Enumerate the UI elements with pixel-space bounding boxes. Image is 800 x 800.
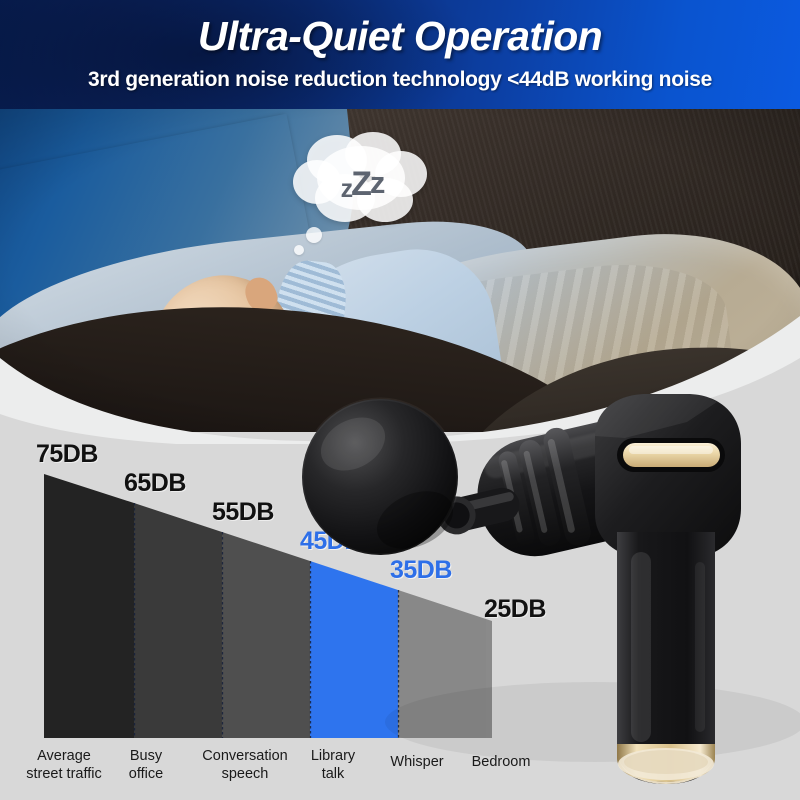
zzz-z-small: z: [341, 175, 352, 203]
chart-value-label-0: 75DB: [36, 440, 98, 469]
chart-category-label-3: Library talk: [288, 748, 378, 783]
chart-value-label-3: 45DB: [300, 527, 362, 556]
chart-bar-busy-office: [134, 503, 222, 738]
promo-page: Ultra-Quiet Operation 3rd generation noi…: [0, 0, 800, 800]
chart-bar-bedroom: [486, 619, 492, 738]
zzz-z-mid: z: [370, 165, 384, 200]
zzz-z-big: Z: [351, 165, 370, 203]
chart-bar-average-street-traffic: [44, 474, 134, 738]
chart-value-label-4: 35DB: [390, 556, 452, 585]
chart-category-label-4: Whisper: [372, 754, 462, 772]
chart-bar-conversation-speech: [222, 532, 310, 738]
chart-value-label-5: 25DB: [484, 595, 546, 624]
sleep-thought-bubble: zZz: [293, 132, 431, 240]
chart-bar-library-talk: [310, 561, 398, 738]
page-subtitle: 3rd generation noise reduction technolog…: [0, 68, 800, 92]
thought-bubble-dot-large: [306, 227, 322, 243]
chart-category-label-5: Bedroom: [456, 754, 546, 772]
noise-level-chart: 75DB 65DB 55DB 45DB 35DB 25DB Average st…: [0, 432, 800, 800]
chart-value-label-2: 55DB: [212, 498, 274, 527]
header-banner: Ultra-Quiet Operation 3rd generation noi…: [0, 0, 800, 109]
chart-bar-whisper: [398, 590, 486, 738]
thought-bubble-dot-small: [294, 245, 304, 255]
zzz-text: zZz: [293, 165, 431, 204]
page-title: Ultra-Quiet Operation: [0, 13, 800, 60]
chart-bars-svg: [0, 432, 800, 800]
chart-value-label-1: 65DB: [124, 469, 186, 498]
